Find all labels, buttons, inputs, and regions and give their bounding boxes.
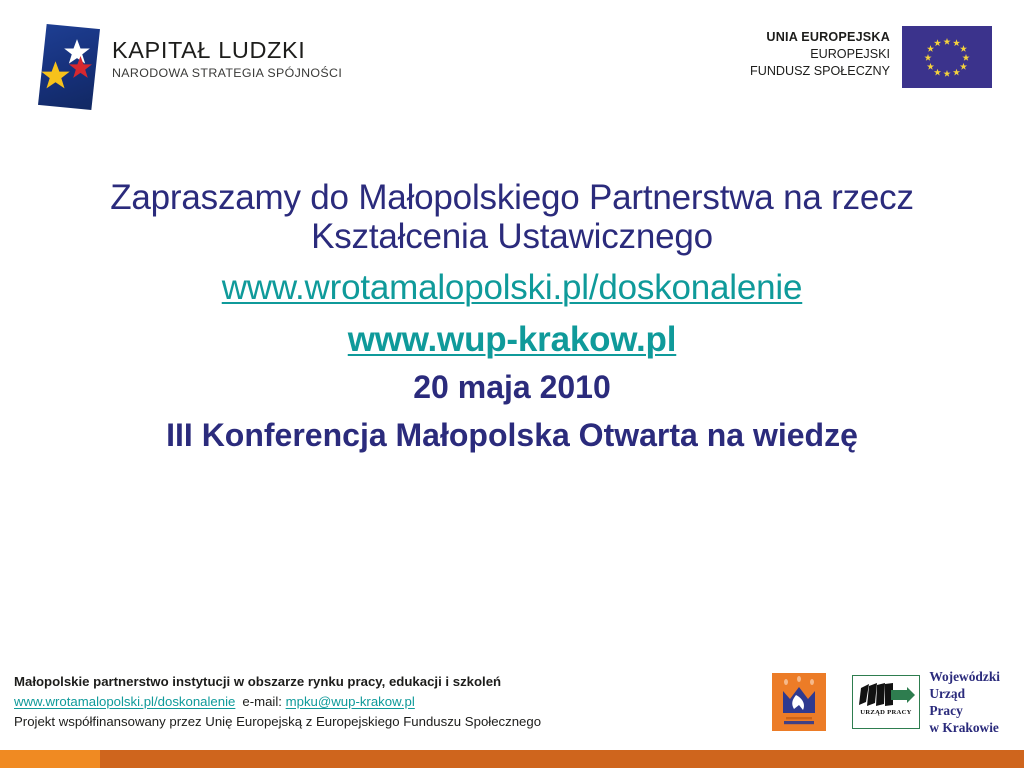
header-logo-row: KAPITAŁ LUDZKI NARODOWA STRATEGIA SPÓJNO… [0, 0, 1024, 140]
wup-word-w-krakowie: w Krakowie [929, 719, 1000, 736]
kapital-ludzki-logo: KAPITAŁ LUDZKI NARODOWA STRATEGIA SPÓJNO… [38, 24, 342, 110]
footer-contact-line: www.wrotamalopolski.pl/doskonaleniee-mai… [14, 692, 654, 712]
red-star-icon [68, 55, 93, 80]
eu-flag-icon [902, 26, 992, 88]
wojewodzki-urzad-pracy-logo: URZĄD PRACY Wojewódzki Urząd Pracy w Kra… [852, 668, 1000, 737]
wup-word-urzad: Urząd [929, 685, 1000, 702]
presentation-slide: KAPITAŁ LUDZKI NARODOWA STRATEGIA SPÓJNO… [0, 0, 1024, 768]
kapital-ludzki-title: KAPITAŁ LUDZKI [112, 38, 342, 63]
european-union-logo: UNIA EUROPEJSKA EUROPEJSKI FUNDUSZ SPOŁE… [750, 26, 992, 88]
svg-text:URZĄD PRACY: URZĄD PRACY [861, 709, 912, 716]
wup-word-wojewodzki: Wojewódzki [929, 668, 1000, 685]
link-wup-krakow[interactable]: www.wup-krakow.pl [60, 320, 964, 360]
yellow-star-icon [40, 60, 71, 91]
eu-line-unia-europejska: UNIA EUROPEJSKA [750, 29, 890, 46]
malopolska-crown-icon [772, 673, 826, 731]
bottom-bar-left-segment [0, 750, 100, 768]
urzad-pracy-arrows-icon: URZĄD PRACY [852, 675, 920, 729]
invitation-heading: Zapraszamy do Małopolskiego Partnerstwa … [60, 178, 964, 256]
eu-stars-parallelogram-icon [38, 24, 100, 110]
european-union-wordmark: UNIA EUROPEJSKA EUROPEJSKI FUNDUSZ SPOŁE… [750, 26, 890, 80]
wup-wordmark: Wojewódzki Urząd Pracy w Krakowie [929, 668, 1000, 737]
wup-word-pracy: Pracy [929, 702, 1000, 719]
footer-link-wrotamalopolski[interactable]: www.wrotamalopolski.pl/doskonalenie [14, 694, 235, 709]
footer-link-email[interactable]: mpku@wup-krakow.pl [286, 694, 415, 709]
footer-logo-row: URZĄD PRACY Wojewódzki Urząd Pracy w Kra… [772, 668, 1000, 737]
slide-body: Zapraszamy do Małopolskiego Partnerstwa … [60, 178, 964, 454]
link-wrotamalopolski[interactable]: www.wrotamalopolski.pl/doskonalenie [60, 268, 964, 308]
bottom-accent-bar [0, 750, 1024, 768]
footer-partnership-line: Małopolskie partnerstwo instytucji w obs… [14, 672, 654, 692]
footer-text-block: Małopolskie partnerstwo instytucji w obs… [14, 672, 654, 732]
event-date: 20 maja 2010 [60, 370, 964, 406]
footer-email-label: e-mail: [242, 694, 282, 709]
conference-title: III Konferencja Małopolska Otwarta na wi… [60, 418, 964, 454]
bottom-bar-right-segment [100, 750, 1024, 768]
footer-cofinancing-line: Projekt współfinansowany przez Unię Euro… [14, 712, 654, 732]
eu-line-fundusz-spoleczny: FUNDUSZ SPOŁECZNY [750, 63, 890, 80]
kapital-ludzki-subtitle: NARODOWA STRATEGIA SPÓJNOŚCI [112, 66, 342, 80]
kapital-ludzki-wordmark: KAPITAŁ LUDZKI NARODOWA STRATEGIA SPÓJNO… [112, 24, 342, 80]
slide-footer: Małopolskie partnerstwo instytucji w obs… [0, 672, 1024, 744]
eu-line-europejski: EUROPEJSKI [750, 46, 890, 63]
